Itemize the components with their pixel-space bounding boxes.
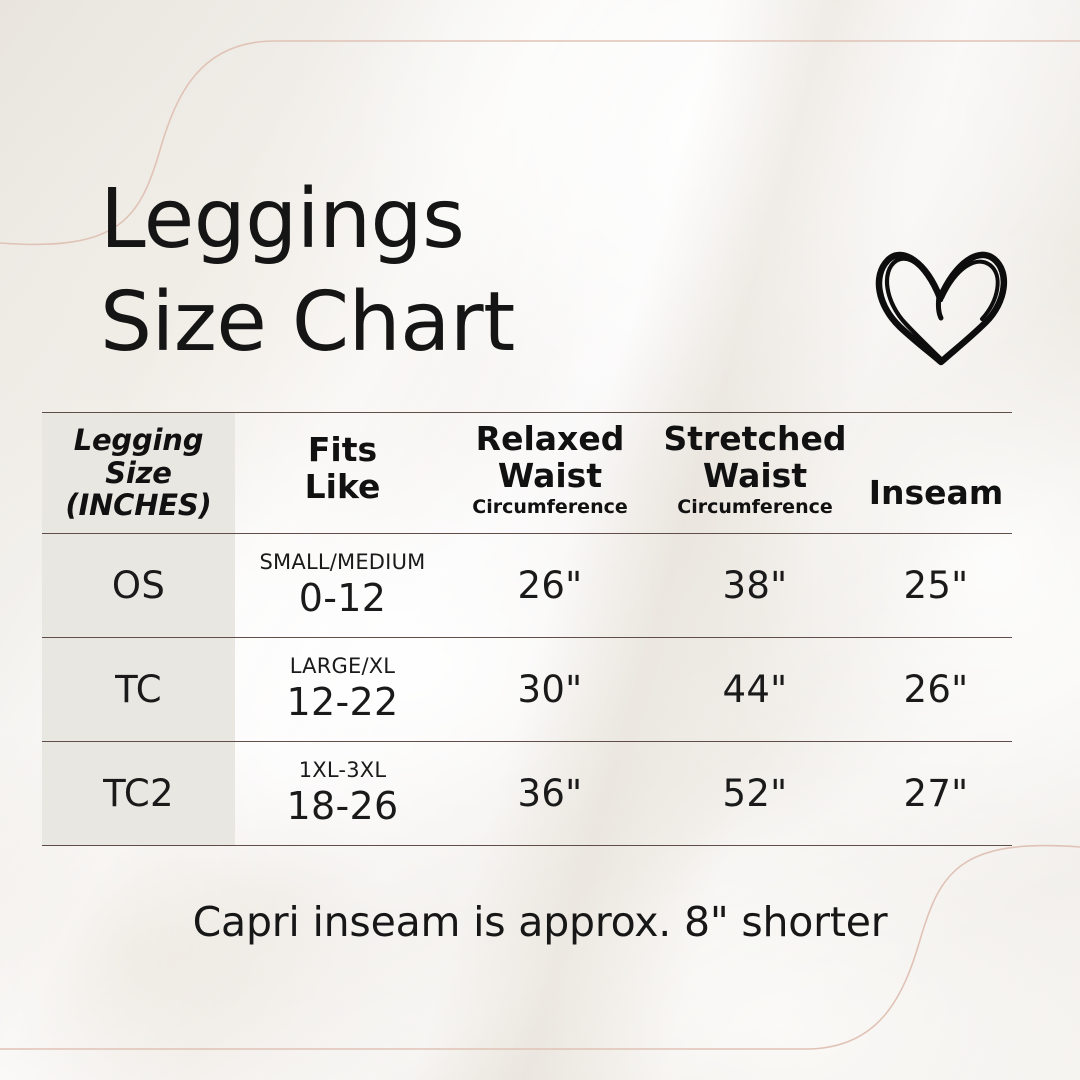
cell-inseam-value: 25" [904,564,969,607]
cell-relaxed-waist: 26" [450,533,650,637]
column-header-fits-like-main: Fits [308,432,377,469]
size-chart-canvas: Leggings Size Chart Legging Size (INCHES… [0,0,1080,1080]
column-header-legging-size: Legging Size (INCHES) [42,413,235,533]
cell-fits-like-label: LARGE/XL [290,654,395,678]
cell-fits-like-range: 12-22 [287,680,399,724]
page-title: Leggings Size Chart [100,168,720,375]
column-header-stretched-waist: Stretched Waist Circumference [650,410,860,530]
footnote-text: Capri inseam is approx. 8" shorter [0,898,1080,946]
cell-fits-like: SMALL/MEDIUM 0-12 [235,533,450,637]
curve-line-icon [0,846,1080,1049]
cell-relaxed-waist: 30" [450,637,650,741]
column-header-inseam-main: Inseam [869,475,1003,512]
cell-relaxed-waist-value: 26" [518,564,583,607]
cell-stretched-waist: 44" [650,637,860,741]
cell-fits-like-range: 18-26 [287,784,399,828]
column-header-stretched-waist-mid: Waist [703,458,807,495]
cell-inseam-value: 26" [904,668,969,711]
cell-size: OS [42,533,235,637]
table-row: TC2 1XL-3XL 18-26 36" 52" 27" [42,741,1012,845]
cell-fits-like-label: 1XL-3XL [299,758,387,782]
column-header-inseam: Inseam [860,413,1012,533]
cell-inseam: 25" [860,533,1012,637]
column-header-relaxed-waist: Relaxed Waist Circumference [450,410,650,530]
cell-size-value: TC2 [103,772,174,815]
cell-stretched-waist-value: 44" [723,668,788,711]
cell-size: TC [42,637,235,741]
column-header-fits-like: Fits Like [235,409,450,529]
cell-fits-like-range: 0-12 [299,576,386,620]
column-header-relaxed-waist-main: Relaxed [476,421,625,458]
table-rule-bottom [42,845,1012,846]
cell-stretched-waist: 38" [650,533,860,637]
cell-inseam: 26" [860,637,1012,741]
size-chart-table: Legging Size (INCHES) Fits Like Relaxed … [42,412,1012,846]
cell-relaxed-waist-value: 36" [518,772,583,815]
column-header-relaxed-waist-sub: Circumference [472,497,628,518]
cell-stretched-waist-value: 52" [723,772,788,815]
cell-inseam: 27" [860,741,1012,845]
cell-stretched-waist-value: 38" [723,564,788,607]
cell-fits-like-label: SMALL/MEDIUM [260,550,426,574]
cell-fits-like: 1XL-3XL 18-26 [235,741,450,845]
column-header-fits-like-sub: Like [305,469,381,506]
table-row: TC LARGE/XL 12-22 30" 44" 26" [42,637,1012,741]
column-header-legging-size-sub: (INCHES) [65,489,211,521]
column-header-stretched-waist-main: Stretched [663,421,846,458]
cell-stretched-waist: 52" [650,741,860,845]
column-header-relaxed-waist-mid: Waist [498,458,602,495]
cell-fits-like: LARGE/XL 12-22 [235,637,450,741]
page-title-line-2: Size Chart [100,271,720,374]
column-header-legging-size-main: Legging Size [42,424,235,489]
cell-relaxed-waist-value: 30" [518,668,583,711]
cell-size: TC2 [42,741,235,845]
cell-inseam-value: 27" [904,772,969,815]
column-header-stretched-waist-sub: Circumference [677,497,833,518]
table-header-row: Legging Size (INCHES) Fits Like Relaxed … [42,413,1012,533]
page-title-line-1: Leggings [100,168,720,271]
heart-doodle-icon [866,228,1016,368]
cell-size-value: OS [112,564,165,607]
cell-size-value: TC [115,668,162,711]
cell-relaxed-waist: 36" [450,741,650,845]
table-row: OS SMALL/MEDIUM 0-12 26" 38" 25" [42,533,1012,637]
